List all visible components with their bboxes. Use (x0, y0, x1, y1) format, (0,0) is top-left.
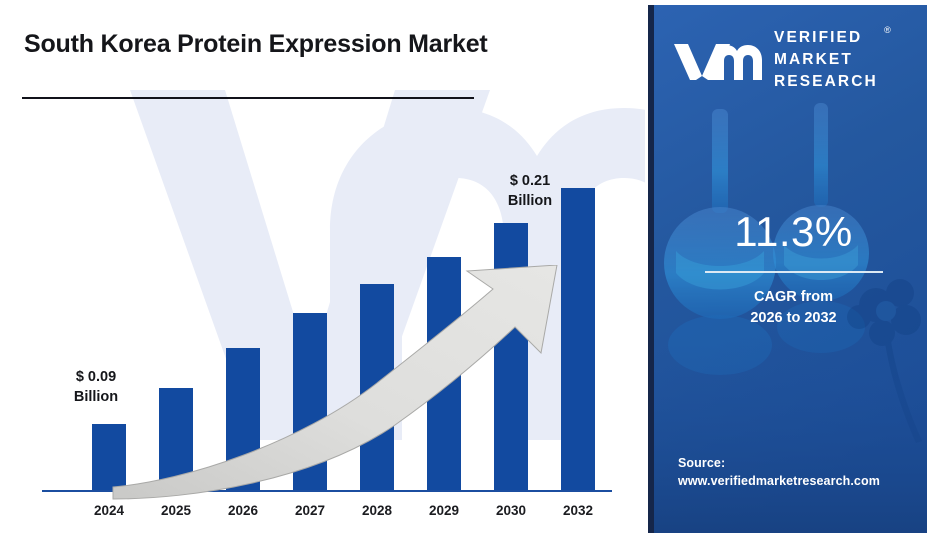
cagr-value: 11.3% (654, 211, 927, 253)
bar-2030[interactable] (494, 223, 528, 490)
wordmark-line-market: MARKET (774, 49, 878, 71)
brand-lockup: VERIFIED MARKET RESEARCH ® (672, 27, 878, 93)
brand-wordmark: VERIFIED MARKET RESEARCH ® (774, 27, 878, 93)
registered-trademark-icon: ® (884, 24, 891, 37)
x-axis-line (42, 490, 612, 492)
bar-2024[interactable] (92, 424, 126, 490)
bar-2027[interactable] (293, 313, 327, 490)
cagr-divider (705, 271, 883, 273)
x-tick-2026: 2026 (208, 503, 278, 518)
infographic-root: South Korea Protein Expression Market 20… (0, 0, 933, 538)
x-tick-2024: 2024 (74, 503, 144, 518)
title-divider (22, 97, 474, 99)
bar-2032[interactable] (561, 188, 595, 490)
x-tick-2030: 2030 (476, 503, 546, 518)
value-label-2032: $ 0.21 Billion (482, 172, 578, 211)
bar-2029[interactable] (427, 257, 461, 490)
x-tick-2028: 2028 (342, 503, 412, 518)
cagr-caption: CAGR from 2026 to 2032 (654, 287, 927, 329)
wordmark-line-research: RESEARCH (774, 71, 878, 93)
source-text: Source: www.verifiedmarketresearch.com (678, 454, 880, 492)
x-tick-2032: 2032 (543, 503, 613, 518)
bar-2026[interactable] (226, 348, 260, 490)
bar-2028[interactable] (360, 284, 394, 490)
cagr-block: 11.3% CAGR from 2026 to 2032 (654, 211, 927, 329)
x-tick-2027: 2027 (275, 503, 345, 518)
brand-panel: VERIFIED MARKET RESEARCH ® 11.3% CAGR fr… (648, 5, 927, 533)
x-tick-2029: 2029 (409, 503, 479, 518)
x-tick-2025: 2025 (141, 503, 211, 518)
value-label-2024: $ 0.09 Billion (48, 368, 144, 407)
vmr-monogram-icon (672, 36, 764, 84)
chart-panel: South Korea Protein Expression Market 20… (0, 0, 645, 538)
page-title: South Korea Protein Expression Market (24, 28, 494, 61)
bar-2025[interactable] (159, 388, 193, 490)
wordmark-line-verified: VERIFIED (774, 27, 878, 49)
